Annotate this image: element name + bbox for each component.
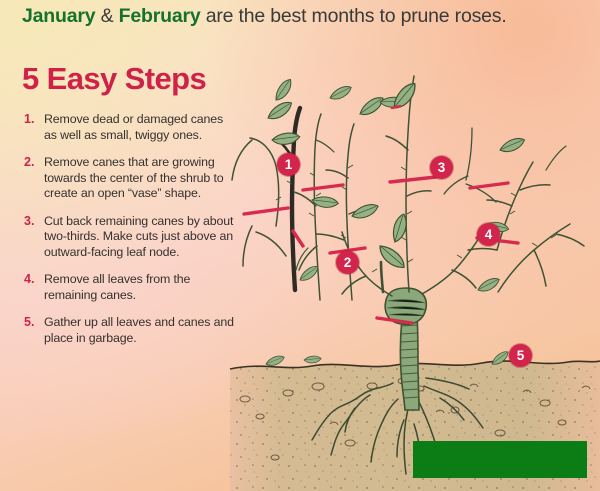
steps-list: 1. Remove dead or damaged canes as well … — [24, 112, 239, 358]
step-text: Cut back remaining canes by about two-th… — [44, 214, 239, 261]
pruning-roses-poster: January & February are the best months t… — [0, 0, 600, 491]
step-text: Gather up all leaves and canes and place… — [44, 315, 239, 346]
headline-rest: are the best months to prune roses. — [206, 5, 507, 27]
step-marker-3: 3 — [430, 156, 453, 179]
step-number: 1. — [24, 112, 44, 143]
step-marker-4: 4 — [477, 223, 500, 246]
headline-month-1: January — [22, 5, 95, 27]
headline-month-2: February — [119, 5, 201, 27]
step-marker-5: 5 — [509, 344, 532, 367]
step-text: Remove canes that are growing towards th… — [44, 155, 239, 202]
step-number: 3. — [24, 214, 44, 261]
page-title: 5 Easy Steps — [22, 61, 206, 97]
list-item: 1. Remove dead or damaged canes as well … — [24, 112, 239, 143]
headline: January & February are the best months t… — [22, 5, 588, 28]
headline-ampersand: & — [101, 5, 114, 27]
step-number: 2. — [24, 155, 44, 202]
step-marker-1: 1 — [277, 153, 300, 176]
list-item: 2. Remove canes that are growing towards… — [24, 155, 239, 202]
list-item: 5. Gather up all leaves and canes and pl… — [24, 315, 239, 346]
step-marker-2: 2 — [336, 251, 359, 274]
list-item: 4. Remove all leaves from the remaining … — [24, 272, 239, 303]
green-logo-block — [413, 441, 587, 478]
step-text: Remove all leaves from the remaining can… — [44, 272, 239, 303]
step-text: Remove dead or damaged canes as well as … — [44, 112, 239, 143]
step-number: 5. — [24, 315, 44, 346]
list-item: 3. Cut back remaining canes by about two… — [24, 214, 239, 261]
step-number: 4. — [24, 272, 44, 303]
thorns — [276, 165, 556, 272]
